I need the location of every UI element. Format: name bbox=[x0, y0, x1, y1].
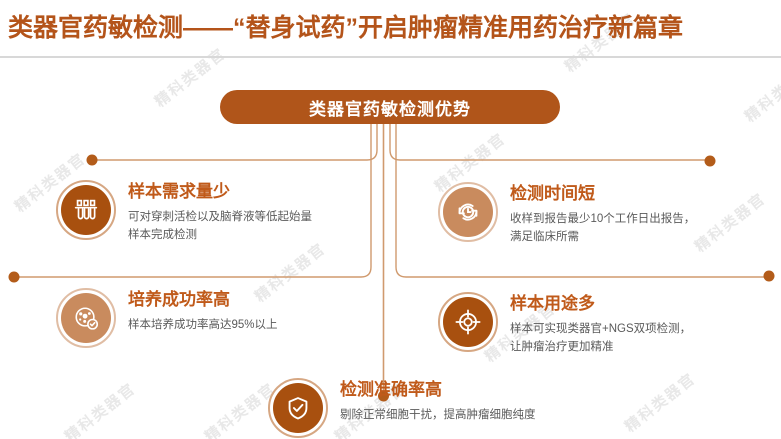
feature-item-detection-time: 检测时间短 收样到报告最少10个工作日出报告， 满足临床所需 bbox=[438, 182, 768, 262]
feature-heading: 样本需求量少 bbox=[128, 182, 312, 202]
feature-text: 检测准确率高 剔除正常细胞干扰，提高肿瘤细胞纯度 bbox=[340, 380, 536, 424]
desc-line: 让肿瘤治疗更加精准 bbox=[510, 338, 691, 356]
desc-line: 可对穿刺活检以及脑脊液等低起始量 bbox=[128, 208, 312, 226]
shield-check-icon bbox=[268, 378, 328, 438]
advantages-banner: 类器官药敏检测优势 bbox=[220, 90, 560, 124]
clock-refresh-icon bbox=[438, 182, 498, 242]
feature-description: 剔除正常细胞干扰，提高肿瘤细胞纯度 bbox=[340, 406, 536, 424]
feature-description: 收样到报告最少10个工作日出报告， 满足临床所需 bbox=[510, 210, 695, 246]
feature-text: 样本需求量少 可对穿刺活检以及脑脊液等低起始量 样本完成检测 bbox=[128, 182, 312, 244]
test-tube-rack-icon bbox=[56, 180, 116, 240]
feature-item-sample-usage: 样本用途多 样本可实现类器官+NGS双项检测， 让肿瘤治疗更加精准 bbox=[438, 292, 768, 372]
banner-label: 类器官药敏检测优势 bbox=[309, 95, 471, 120]
page-title: 类器官药敏检测——“替身试药”开启肿瘤精准用药治疗新篇章 bbox=[8, 8, 778, 44]
title-bar: 类器官药敏检测——“替身试药”开启肿瘤精准用药治疗新篇章 bbox=[0, 0, 781, 58]
crosshair-target-icon bbox=[438, 292, 498, 352]
desc-line: 样本培养成功率高达95%以上 bbox=[128, 316, 278, 334]
feature-heading: 检测准确率高 bbox=[340, 380, 536, 400]
desc-line: 满足临床所需 bbox=[510, 228, 695, 246]
connector-dot bbox=[705, 156, 716, 167]
feature-heading: 培养成功率高 bbox=[128, 290, 278, 310]
desc-line: 样本可实现类器官+NGS双项检测， bbox=[510, 320, 691, 338]
feature-text: 培养成功率高 样本培养成功率高达95%以上 bbox=[128, 290, 278, 334]
connector-dot bbox=[87, 155, 98, 166]
feature-heading: 检测时间短 bbox=[510, 184, 695, 204]
feature-description: 样本培养成功率高达95%以上 bbox=[128, 316, 278, 334]
desc-line: 剔除正常细胞干扰，提高肿瘤细胞纯度 bbox=[340, 406, 536, 424]
feature-text: 检测时间短 收样到报告最少10个工作日出报告， 满足临床所需 bbox=[510, 184, 695, 246]
feature-description: 样本可实现类器官+NGS双项检测， 让肿瘤治疗更加精准 bbox=[510, 320, 691, 356]
desc-line: 样本完成检测 bbox=[128, 226, 312, 244]
cell-culture-check-icon bbox=[56, 288, 116, 348]
feature-text: 样本用途多 样本可实现类器官+NGS双项检测， 让肿瘤治疗更加精准 bbox=[510, 294, 691, 356]
feature-item-culture-success-rate: 培养成功率高 样本培养成功率高达95%以上 bbox=[56, 288, 386, 358]
connector-dot bbox=[764, 271, 775, 282]
connector-dot bbox=[9, 272, 20, 283]
feature-heading: 样本用途多 bbox=[510, 294, 691, 314]
infographic-stage: 类器官药敏检测——“替身试药”开启肿瘤精准用药治疗新篇章 类器官药敏检测优势 bbox=[0, 0, 781, 439]
desc-line: 收样到报告最少10个工作日出报告， bbox=[510, 210, 695, 228]
feature-description: 可对穿刺活检以及脑脊液等低起始量 样本完成检测 bbox=[128, 208, 312, 244]
feature-item-sample-requirement: 样本需求量少 可对穿刺活检以及脑脊液等低起始量 样本完成检测 bbox=[56, 180, 386, 260]
feature-item-detection-accuracy: 检测准确率高 剔除正常细胞干扰，提高肿瘤细胞纯度 bbox=[268, 378, 668, 438]
